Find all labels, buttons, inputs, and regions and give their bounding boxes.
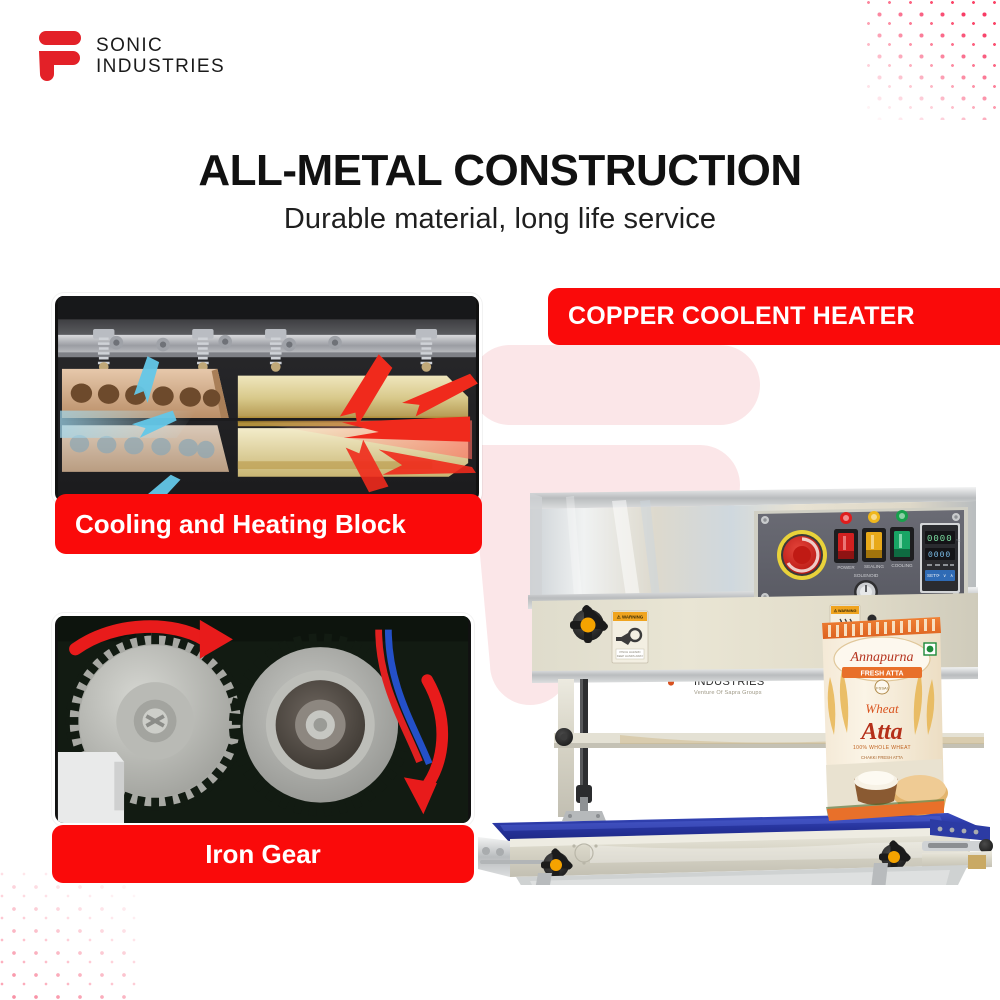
svg-text:Wheat: Wheat — [865, 701, 899, 716]
machine-body-logo-text: SONIC INDUSTRIES Venture Of Sapra Groups… — [0, 0, 1, 1]
svg-text:Annapurna: Annapurna — [850, 650, 914, 665]
svg-text:0000: 0000 — [928, 551, 951, 560]
svg-text:POWER: POWER — [837, 565, 855, 570]
badge-copper-coolent-heater: COPPER COOLENT HEATER — [548, 288, 1000, 345]
svg-text:100% WHOLE WHEAT: 100% WHOLE WHEAT — [853, 745, 911, 751]
badge-iron-gear: Iron Gear — [52, 825, 474, 883]
badge-cooling-and-heating-block: Cooling and Heating Block — [55, 494, 482, 554]
svg-text:KEEP HANDS AWAY: KEEP HANDS AWAY — [617, 654, 644, 658]
svg-text:Atta: Atta — [859, 719, 902, 745]
svg-text:FRESH ATTA: FRESH ATTA — [860, 671, 903, 678]
svg-text:⚠ WARNING: ⚠ WARNING — [617, 615, 644, 620]
svg-text:FSSAI: FSSAI — [876, 686, 888, 691]
pink-dot-pattern — [0, 870, 140, 1000]
svg-text:COOLING: COOLING — [891, 563, 913, 568]
brand-line-2: INDUSTRIES — [96, 56, 225, 77]
svg-text:CHAKKI FRESH ATTA: CHAKKI FRESH ATTA — [861, 755, 903, 760]
svg-text:0000: 0000 — [927, 534, 953, 544]
poster-canvas: SONIC INDUSTRIES ALL-METAL CONSTRUCTION … — [0, 0, 1000, 1000]
svg-text:SET: SET — [927, 573, 936, 578]
continuous-band-sealer-machine: SONIC ® INDUSTRIES Venture Of Sapra Grou… — [470, 465, 1000, 885]
page-subtitle: Durable material, long life service — [0, 203, 1000, 236]
svg-text:Venture Of Sapra Groups: Venture Of Sapra Groups — [694, 690, 762, 696]
brand-line-1: SONIC — [96, 35, 225, 56]
svg-text:°C: °C — [956, 538, 961, 543]
iron-gear-photo — [52, 613, 474, 826]
cooling-and-heating-block-photo — [52, 293, 482, 505]
red-dot-pattern — [865, 0, 1000, 120]
svg-text:SEALING: SEALING — [864, 564, 884, 569]
sonic-s-logo-icon — [38, 30, 82, 82]
page-title: ALL-METAL CONSTRUCTION — [0, 146, 1000, 196]
brand-logo: SONIC INDUSTRIES — [38, 30, 225, 82]
svg-text:⚠ WARNING: ⚠ WARNING — [834, 608, 857, 613]
svg-text:SOLENOID: SOLENOID — [854, 573, 879, 579]
